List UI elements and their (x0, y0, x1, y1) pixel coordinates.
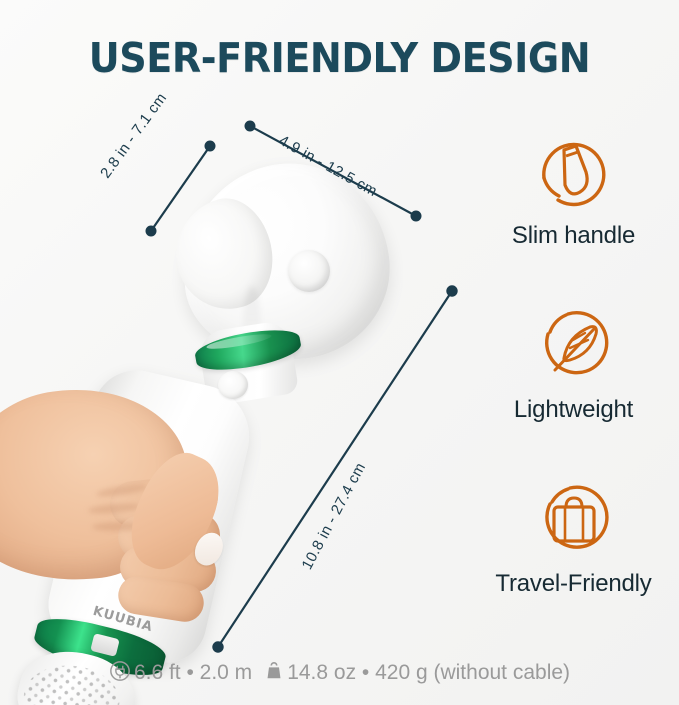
dimension-line-width (151, 146, 210, 231)
infographic-page: USER-FRIENDLY DESIGN KUUBIA (0, 0, 679, 705)
feature-item-lightweight: Lightweight (468, 300, 679, 474)
feature-label: Slim handle (468, 222, 679, 250)
dimension-endpoint (447, 286, 456, 295)
dimension-endpoint (147, 227, 156, 236)
feather-icon (528, 300, 620, 392)
feature-item-slim-handle: Slim handle (468, 126, 679, 300)
dimension-line-height (218, 291, 452, 647)
dimension-endpoint (246, 122, 255, 131)
weight-icon (264, 660, 284, 682)
spec-bar: 6.6 ft • 2.0 m 14.8 oz • 420 g (without … (0, 660, 679, 685)
spec-weight: 14.8 oz • 420 g (without cable) (287, 661, 570, 684)
dimension-endpoint (412, 212, 421, 221)
spec-cable-length: 6.6 ft • 2.0 m (134, 661, 252, 684)
feature-item-travel-friendly: Travel-Friendly (468, 474, 679, 648)
dimension-endpoint (213, 642, 222, 651)
feature-label: Travel-Friendly (468, 570, 679, 598)
feature-list: Slim handle Lightweight Travel-Friendly (468, 126, 679, 648)
slim-handle-icon (528, 126, 620, 218)
feature-label: Lightweight (468, 396, 679, 424)
power-plug-icon (109, 660, 131, 682)
dimension-endpoint (206, 142, 215, 151)
suitcase-icon (528, 474, 620, 566)
